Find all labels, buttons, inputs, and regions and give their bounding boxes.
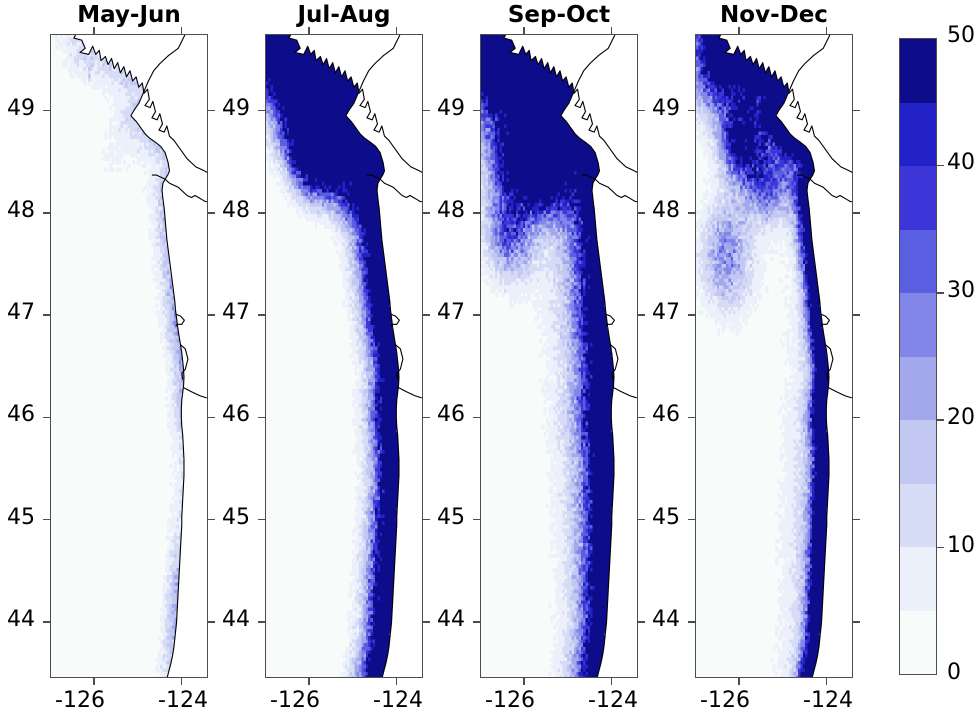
ytick-label: 46: [423, 402, 465, 427]
ytick-mark: [258, 519, 265, 521]
ytick-label: 46: [208, 402, 250, 427]
xtick-label-3-0: -126: [460, 688, 560, 713]
colorbar-tick-mark: [937, 165, 944, 167]
ytick-label: 49: [423, 96, 465, 121]
colorbar-band: [900, 293, 936, 357]
xtick-mark: [826, 27, 828, 34]
ytick-mark: [853, 519, 860, 521]
colorbar-tick-label: 50: [947, 23, 975, 48]
ytick-mark: [43, 212, 50, 214]
ytick-mark: [43, 417, 50, 419]
xtick-label-2-1: -124: [348, 688, 448, 713]
ytick-mark: [258, 110, 265, 112]
xtick-mark: [523, 27, 525, 34]
colorbar-band: [900, 357, 936, 421]
xtick-mark: [93, 27, 95, 34]
xtick-mark: [611, 27, 613, 34]
map-svg-1: [51, 35, 208, 678]
ytick-mark: [473, 417, 480, 419]
map-svg-4: [696, 35, 853, 678]
ytick-label: 48: [638, 198, 680, 223]
xtick-mark: [396, 27, 398, 34]
ytick-label: 49: [638, 96, 680, 121]
ytick-mark: [43, 110, 50, 112]
colorbar-tick-label: 20: [947, 405, 975, 430]
colorbar-tick-label: 40: [947, 150, 975, 175]
ytick-label: 47: [0, 300, 35, 325]
xtick-mark: [826, 678, 828, 685]
ytick-mark: [688, 110, 695, 112]
ytick-mark: [853, 314, 860, 316]
ytick-mark: [688, 621, 695, 623]
ytick-mark: [688, 519, 695, 521]
ytick-label: 45: [423, 505, 465, 530]
map-panel-3[interactable]: [480, 34, 638, 678]
ytick-label: 45: [0, 505, 35, 530]
colorbar-band: [900, 484, 936, 548]
ytick-mark: [258, 314, 265, 316]
ytick-label: 47: [638, 300, 680, 325]
panel-title-4: Nov-Dec: [695, 2, 853, 28]
ytick-mark: [258, 212, 265, 214]
ytick-mark: [688, 417, 695, 419]
xtick-mark: [93, 678, 95, 685]
ytick-mark: [688, 314, 695, 316]
ytick-label: 44: [0, 607, 35, 632]
ytick-mark: [853, 212, 860, 214]
xtick-mark: [523, 678, 525, 685]
xtick-mark: [738, 678, 740, 685]
map-panel-4[interactable]: [695, 34, 853, 678]
ytick-label: 49: [208, 96, 250, 121]
ytick-label: 47: [423, 300, 465, 325]
colorbar-tick-label: 0: [947, 660, 961, 685]
ytick-label: 45: [208, 505, 250, 530]
ytick-label: 48: [208, 198, 250, 223]
ytick-mark: [473, 621, 480, 623]
figure-panel-grid: May-Jun -126 -124 Jul-Aug -126 -124 Sep-…: [0, 0, 975, 727]
map-svg-2: [266, 35, 423, 678]
xtick-label-3-1: -124: [563, 688, 663, 713]
ytick-label: 49: [0, 96, 35, 121]
panel-title-2: Jul-Aug: [265, 2, 423, 28]
xtick-mark: [738, 27, 740, 34]
colorbar-tick-mark: [937, 292, 944, 294]
colorbar-band: [900, 420, 936, 484]
ytick-label: 44: [423, 607, 465, 632]
xtick-label-2-0: -126: [245, 688, 345, 713]
xtick-label-1-0: -126: [30, 688, 130, 713]
map-svg-3: [481, 35, 638, 678]
ytick-mark: [688, 212, 695, 214]
ytick-mark: [43, 314, 50, 316]
colorbar-band: [900, 230, 936, 294]
ytick-label: 48: [0, 198, 35, 223]
xtick-label-4-1: -124: [778, 688, 878, 713]
colorbar-band: [900, 611, 936, 675]
ytick-label: 44: [208, 607, 250, 632]
colorbar-tick-mark: [937, 419, 944, 421]
colorbar-tick-mark: [937, 547, 944, 549]
ytick-mark: [473, 110, 480, 112]
ytick-mark: [853, 621, 860, 623]
xtick-mark: [181, 678, 183, 685]
ytick-mark: [473, 519, 480, 521]
ytick-mark: [43, 621, 50, 623]
xtick-label-4-0: -126: [675, 688, 775, 713]
xtick-mark: [396, 678, 398, 685]
colorbar[interactable]: [899, 38, 937, 675]
xtick-mark: [181, 27, 183, 34]
map-panel-1[interactable]: [50, 34, 208, 678]
ytick-label: 46: [638, 402, 680, 427]
colorbar-band: [900, 166, 936, 230]
ytick-label: 48: [423, 198, 465, 223]
colorbar-band: [900, 39, 936, 103]
colorbar-tick-label: 30: [947, 278, 975, 303]
ytick-mark: [473, 212, 480, 214]
colorbar-band: [900, 103, 936, 167]
ytick-label: 45: [638, 505, 680, 530]
colorbar-tick-label: 10: [947, 533, 975, 558]
ytick-mark: [258, 621, 265, 623]
ytick-mark: [853, 110, 860, 112]
ytick-label: 44: [638, 607, 680, 632]
panel-title-1: May-Jun: [50, 2, 208, 28]
ytick-mark: [43, 519, 50, 521]
map-panel-2[interactable]: [265, 34, 423, 678]
xtick-mark: [308, 678, 310, 685]
xtick-mark: [611, 678, 613, 685]
ytick-mark: [473, 314, 480, 316]
ytick-mark: [258, 417, 265, 419]
ytick-label: 47: [208, 300, 250, 325]
ytick-mark: [853, 417, 860, 419]
colorbar-band: [900, 547, 936, 611]
panel-title-3: Sep-Oct: [480, 2, 638, 28]
ytick-label: 46: [0, 402, 35, 427]
xtick-label-1-1: -124: [133, 688, 233, 713]
xtick-mark: [308, 27, 310, 34]
